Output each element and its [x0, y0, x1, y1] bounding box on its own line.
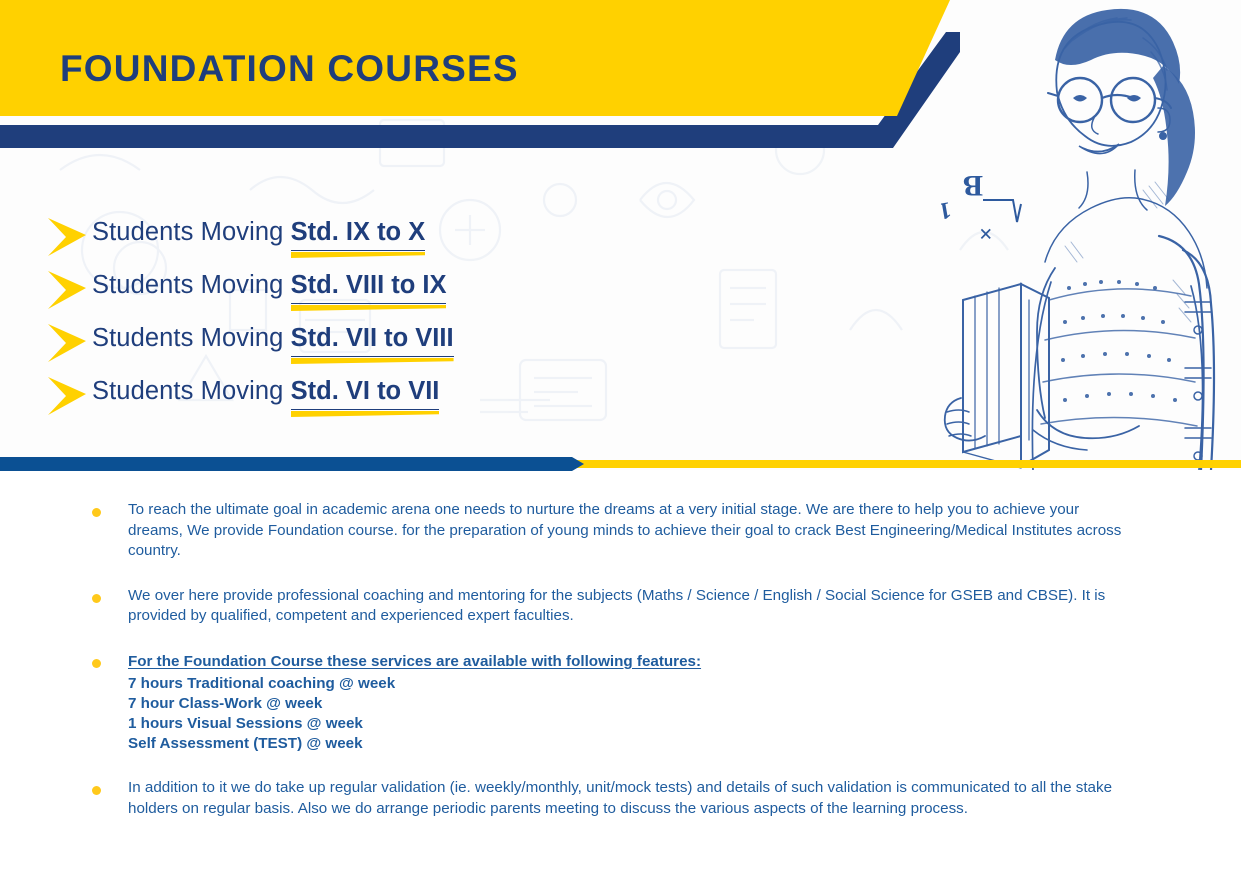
course-label: Students Moving Std. IX to X — [92, 214, 425, 251]
feature-line: 7 hour Class-Work @ week — [128, 694, 1131, 714]
course-standard: Std. VI to VII — [291, 374, 440, 410]
radical-symbol-icon — [981, 196, 1025, 226]
standard-underline — [291, 411, 440, 417]
course-standard: Std. IX to X — [291, 215, 426, 251]
course-standard: Std. VIII to IX — [291, 268, 447, 304]
hero-section: FOUNDATION COURSES Students Moving Std. … — [0, 0, 1241, 470]
course-row[interactable]: Students Moving Std. VII to VIII — [46, 320, 686, 373]
course-lead: Students Moving — [92, 218, 291, 246]
bullet-item: In addition to it we do take up regular … — [0, 778, 1241, 819]
chevron-right-icon — [46, 269, 92, 311]
student-with-books-illustration: B 1 x × # — [941, 0, 1241, 470]
course-lead: Students Moving — [92, 324, 291, 352]
bullet-item: We over here provide professional coachi… — [0, 586, 1241, 627]
bullet-text: We over here provide professional coachi… — [128, 586, 1131, 627]
body-content: To reach the ultimate goal in academic a… — [0, 500, 1241, 843]
standard-underline — [291, 358, 454, 364]
bullet-text: To reach the ultimate goal in academic a… — [128, 500, 1131, 562]
chevron-right-icon — [46, 216, 92, 258]
bullet-dot-icon — [92, 659, 101, 668]
bullet-dot-icon — [92, 508, 101, 517]
course-row[interactable]: Students Moving Std. VIII to IX — [46, 267, 686, 320]
course-lead: Students Moving — [92, 377, 291, 405]
course-label: Students Moving Std. VIII to IX — [92, 267, 446, 304]
feature-line: 7 hours Traditional coaching @ week — [128, 674, 1131, 694]
course-label: Students Moving Std. VI to VII — [92, 373, 439, 410]
course-label: Students Moving Std. VII to VIII — [92, 320, 454, 357]
standard-underline — [291, 305, 447, 311]
feature-line: 1 hours Visual Sessions @ week — [128, 714, 1131, 734]
symbol-b-icon: B — [963, 168, 983, 202]
course-list: Students Moving Std. IX to X Students Mo… — [46, 214, 686, 426]
foundation-courses-page: FOUNDATION COURSES Students Moving Std. … — [0, 0, 1241, 875]
feature-line: Self Assessment (TEST) @ week — [128, 734, 1131, 754]
symbol-times-icon: × — [979, 222, 993, 249]
bullet-dot-icon — [92, 786, 101, 795]
bullet-text: In addition to it we do take up regular … — [128, 778, 1131, 819]
bullet-item: To reach the ultimate goal in academic a… — [0, 500, 1241, 562]
standard-underline — [291, 252, 426, 258]
chevron-right-icon — [46, 322, 92, 364]
divider-blue — [0, 457, 584, 471]
course-row[interactable]: Students Moving Std. IX to X — [46, 214, 686, 267]
course-lead: Students Moving — [92, 271, 291, 299]
course-row[interactable]: Students Moving Std. VI to VII — [46, 373, 686, 426]
course-standard: Std. VII to VIII — [291, 321, 454, 357]
features-heading: For the Foundation Course these services… — [128, 651, 1131, 673]
bullet-item-features: For the Foundation Course these services… — [0, 651, 1241, 754]
chevron-right-icon — [46, 375, 92, 417]
bullet-dot-icon — [92, 594, 101, 603]
page-title: FOUNDATION COURSES — [60, 48, 519, 90]
